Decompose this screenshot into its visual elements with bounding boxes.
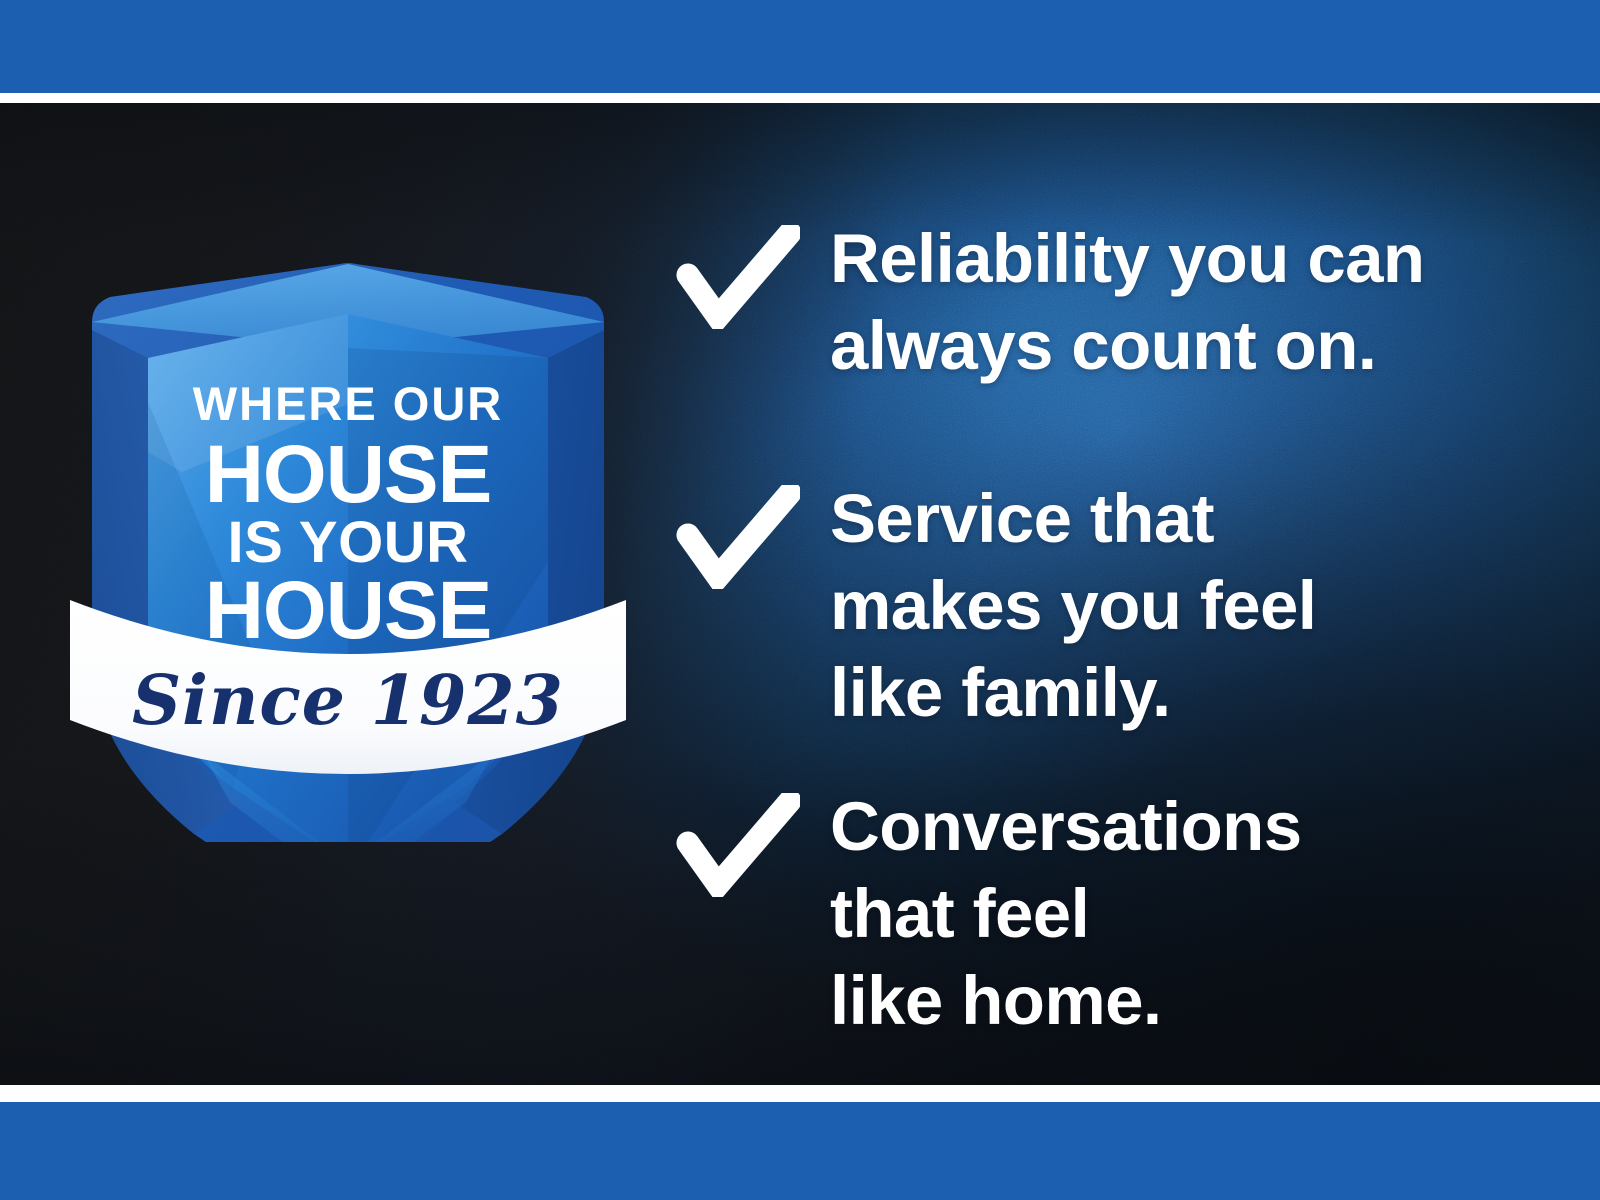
benefits-list: Reliability you can always count on. Ser…: [676, 103, 1556, 1085]
check-icon: [676, 793, 800, 897]
benefit-text: Service that makes you feel like family.: [830, 475, 1316, 736]
promo-graphic: WHERE OUR HOUSE IS YOUR HOUSE Since 1923…: [0, 0, 1600, 1200]
ribbon-text: Since 1923: [132, 661, 564, 741]
benefit-item: Reliability you can always count on.: [676, 215, 1424, 389]
check-icon: [676, 225, 800, 329]
emblem-line-1: WHERE OUR: [193, 377, 503, 430]
benefit-item: Service that makes you feel like family.: [676, 475, 1316, 736]
emblem-line-2: HOUSE: [205, 429, 492, 520]
check-icon: [676, 485, 800, 589]
bottom-brand-bar: [0, 1102, 1600, 1200]
benefit-item: Conversations that feel like home.: [676, 783, 1302, 1044]
emblem-line-4: HOUSE: [205, 565, 492, 656]
top-brand-bar: [0, 0, 1600, 93]
benefit-text: Reliability you can always count on.: [830, 215, 1424, 389]
benefit-text: Conversations that feel like home.: [830, 783, 1302, 1044]
emblem: WHERE OUR HOUSE IS YOUR HOUSE Since 1923: [62, 152, 632, 842]
